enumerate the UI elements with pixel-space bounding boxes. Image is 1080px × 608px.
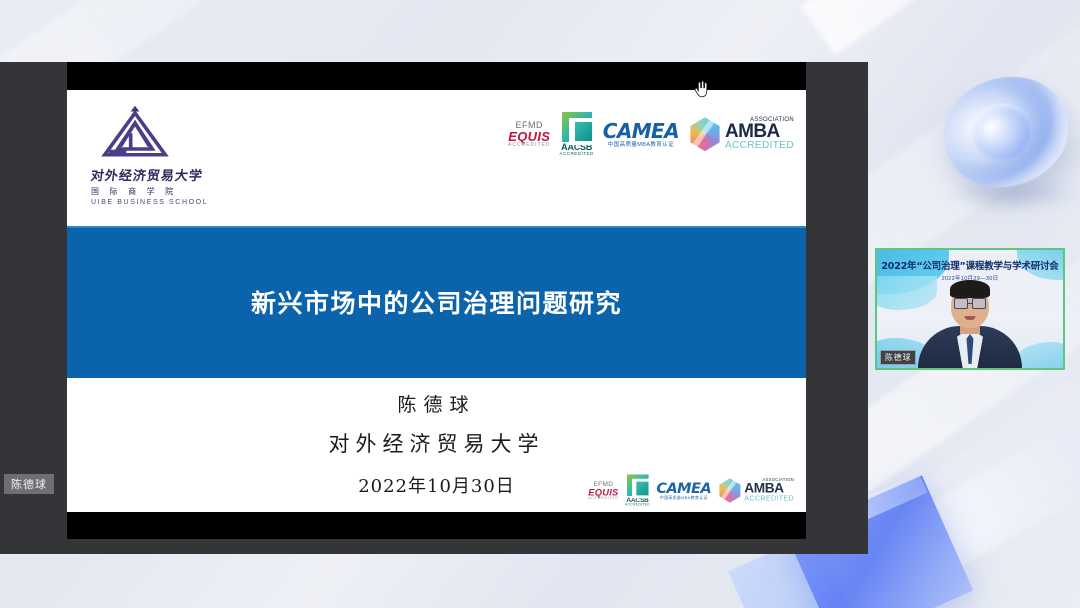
screen-root: 对外经济贸易大学 国 际 商 学 院 UIBE BUSINESS SCHOOL … xyxy=(0,0,1080,608)
amba-name-bottom: AMBA xyxy=(744,482,794,495)
glasses-lens-left xyxy=(954,298,968,309)
uibe-logo-chinese-name: 对外经济贸易大学 xyxy=(90,165,242,184)
amba-gem-icon-bottom xyxy=(718,478,742,502)
uibe-triangle-mark xyxy=(99,104,171,158)
camea-name: CAMEA xyxy=(603,121,679,141)
camea-chinese-subtitle: 中国高质量MBA教育认证 xyxy=(608,143,674,149)
speaker-nameplate: 陈德球 xyxy=(4,474,54,494)
participant-video-tile[interactable]: 2022年“公司治理”课程教学与学术研讨会 2022年10月29—30日 陈德球 xyxy=(875,248,1065,370)
speaker-avatar xyxy=(918,292,1022,368)
camea-logo: CAMEA 中国高质量MBA教育认证 xyxy=(603,121,679,149)
presentation-slide[interactable]: 对外经济贸易大学 国 际 商 学 院 UIBE BUSINESS SCHOOL … xyxy=(67,62,806,539)
amba-text-block: ASSOCIATION AMBA ACCREDITED xyxy=(725,118,794,151)
presenter-name: 陈德球 xyxy=(67,390,806,417)
amba-text-block-bottom: ASSOCIATION AMBA ACCREDITED xyxy=(744,478,794,502)
aacsb-mark-bottom xyxy=(627,474,649,496)
equis-name: EQUIS xyxy=(508,130,550,143)
aacsb-mark xyxy=(562,112,592,142)
uibe-logo-school-en: UIBE BUSINESS SCHOOL xyxy=(91,199,241,206)
aacsb-logo-bottom: AACSB ACCREDITED xyxy=(625,474,650,506)
equis-logo: EFMD EQUIS ACCREDITED xyxy=(508,121,551,148)
video-banner-title: 2022年“公司治理”课程教学与学术研讨会 xyxy=(877,258,1063,272)
hand-pointer-cursor xyxy=(694,80,708,98)
camea-logo-bottom: CAMEA 中国高质量MBA教育认证 xyxy=(656,480,711,500)
amba-gem-icon xyxy=(688,117,722,151)
speaker-hair xyxy=(950,280,990,298)
page-title: 新兴市场中的公司治理问题研究 xyxy=(67,226,806,378)
aacsb-logo: AACSB ACCREDITED xyxy=(560,112,594,157)
accreditation-logos-bottom: EFMD EQUIS ACCREDITED AACSB ACCREDITED C… xyxy=(588,474,794,506)
slide-sheet: 对外经济贸易大学 国 际 商 学 院 UIBE BUSINESS SCHOOL … xyxy=(67,90,806,512)
accreditation-logos-top: EFMD EQUIS ACCREDITED AACSB ACCREDITED C… xyxy=(508,112,794,157)
amba-logo-bottom: ASSOCIATION AMBA ACCREDITED xyxy=(718,478,794,502)
amba-name: AMBA xyxy=(725,123,794,141)
amba-logo: ASSOCIATION AMBA ACCREDITED xyxy=(688,117,794,151)
amba-accredited-label: ACCREDITED xyxy=(725,141,794,151)
glasses-icon xyxy=(954,299,986,308)
uibe-logo: 对外经济贸易大学 国 际 商 学 院 UIBE BUSINESS SCHOOL xyxy=(91,104,241,206)
glasses-lens-right xyxy=(972,298,986,309)
camea-chinese-subtitle-bottom: 中国高质量MBA教育认证 xyxy=(660,496,708,500)
equis-accredited-label: ACCREDITED xyxy=(508,143,551,148)
amba-accredited-label-bottom: ACCREDITED xyxy=(744,495,794,502)
presenter-organization: 对外经济贸易大学 xyxy=(67,428,806,458)
equis-name-bottom: EQUIS xyxy=(588,487,618,496)
wallpaper-stripe xyxy=(801,0,1080,55)
uibe-logo-school-cn: 国 际 商 学 院 xyxy=(91,186,241,197)
equis-logo-bottom: EFMD EQUIS ACCREDITED xyxy=(588,480,619,499)
camea-name-bottom: CAMEA xyxy=(656,480,711,494)
video-participant-name: 陈德球 xyxy=(880,350,916,365)
aacsb-accredited-label: ACCREDITED xyxy=(560,152,594,157)
slide-title-band: 新兴市场中的公司治理问题研究 xyxy=(67,226,806,378)
equis-accredited-label-bottom: ACCREDITED xyxy=(588,496,619,500)
aacsb-accredited-label-bottom: ACCREDITED xyxy=(625,503,650,506)
